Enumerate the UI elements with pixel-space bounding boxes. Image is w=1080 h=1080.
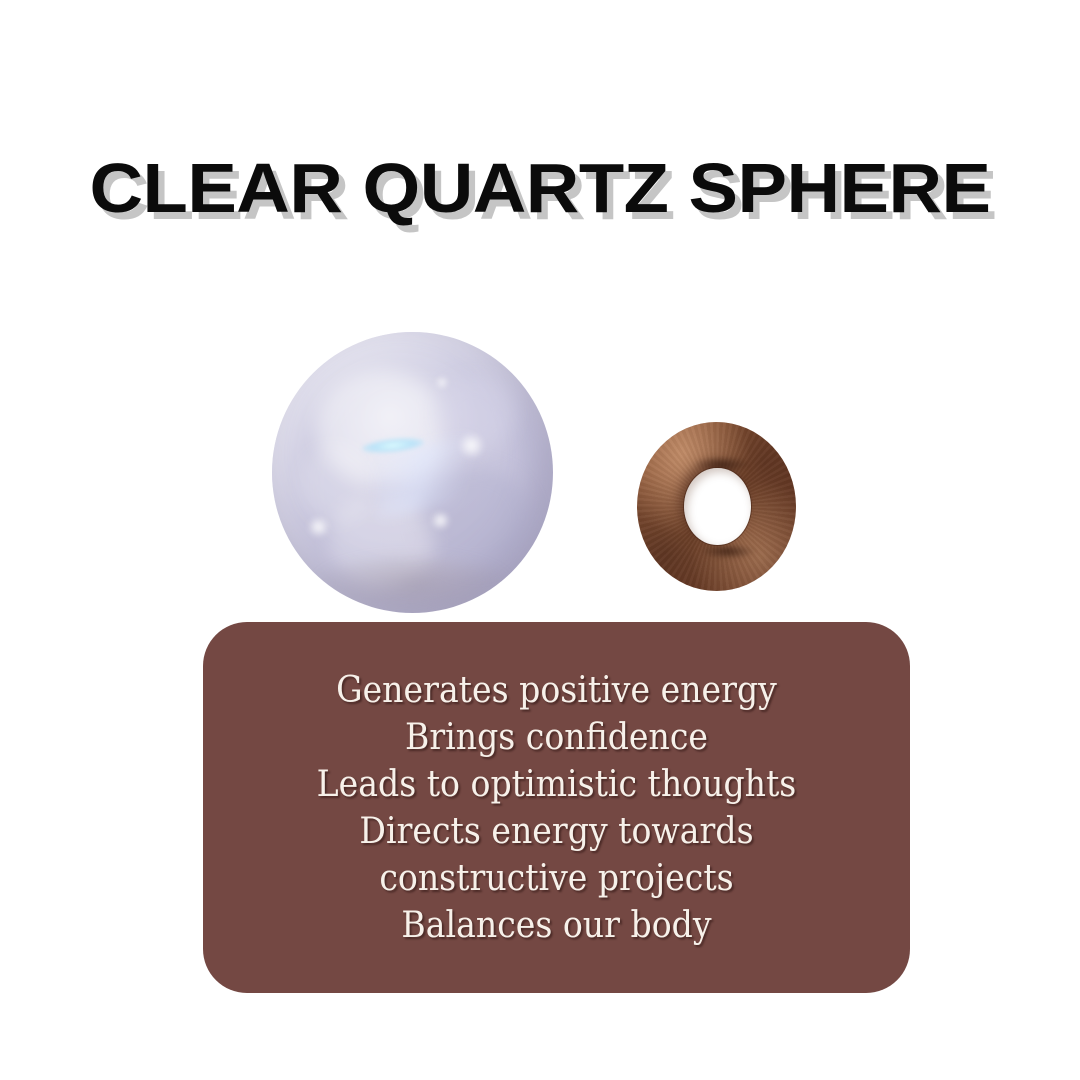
benefits-panel: Generates positive energy Brings confide… xyxy=(203,622,910,993)
page-title: CLEAR QUARTZ SPHERE xyxy=(0,148,1080,228)
sphere-specular-highlight xyxy=(457,433,485,458)
sphere-specular-highlight xyxy=(306,517,331,537)
wooden-ring-image xyxy=(637,422,796,591)
benefits-list: Generates positive energy Brings confide… xyxy=(231,667,881,949)
quartz-sphere-image xyxy=(272,332,553,613)
benefit-item: Generates positive energy xyxy=(255,667,858,714)
benefit-item: Brings confidence xyxy=(255,714,858,761)
benefit-item: Leads to optimistic thoughts xyxy=(255,761,858,808)
sphere-inclusion-icon xyxy=(300,444,373,523)
product-graphic: CLEAR QUARTZ SPHERE Gener xyxy=(0,0,1080,1080)
ring-seam-mark xyxy=(701,544,755,559)
sphere-base-shading xyxy=(311,557,513,613)
ring-center-hole xyxy=(684,468,751,546)
sphere-body xyxy=(272,332,553,613)
benefit-item: Balances our body xyxy=(255,902,858,949)
benefit-item: Directs energy towards constructive proj… xyxy=(255,808,858,902)
sphere-specular-highlight xyxy=(429,512,451,529)
